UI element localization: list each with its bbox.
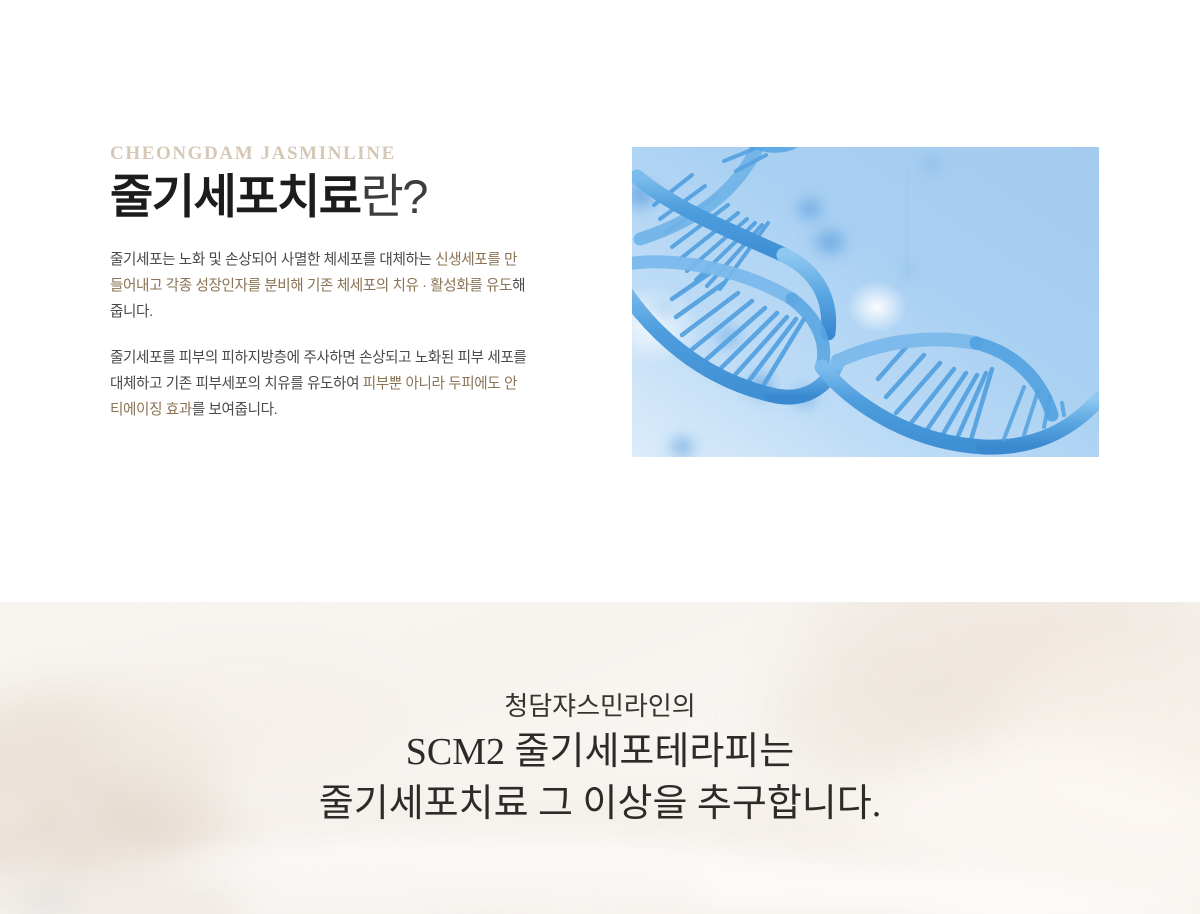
tagline-line-2: SCM2 줄기세포테라피는 xyxy=(0,726,1200,778)
tagline-line-3: 줄기세포치료 그 이상을 추구합니다. xyxy=(0,778,1200,830)
soft-swoosh xyxy=(0,836,1200,914)
tagline-line-1: 청담쟈스민라인의 xyxy=(0,688,1200,726)
light-glow xyxy=(847,281,907,333)
page-title: 줄기세포치료란? xyxy=(110,172,530,221)
intro-paragraph-2: 줄기세포를 피부의 피하지방층에 주사하면 손상되고 노화된 피부 세포를 대체… xyxy=(110,345,530,423)
intro-paragraph-1: 줄기세포는 노화 및 손상되어 사멸한 체세포를 대체하는 신생세포를 만들어내… xyxy=(110,247,530,325)
tagline-section: 청담쟈스민라인의 SCM2 줄기세포테라피는 줄기세포치료 그 이상을 추구합니… xyxy=(0,602,1200,914)
page-title-strong: 줄기세포치료 xyxy=(110,170,360,223)
page-title-light: 란? xyxy=(360,170,426,223)
dna-double-helix-image xyxy=(632,147,1099,457)
paragraph-2-segment-3: 를 보여줍니다. xyxy=(192,402,277,418)
brand-eyebrow: CHEONGDAM JASMINLINE xyxy=(110,143,530,166)
paragraph-1-segment-1: 줄기세포는 노화 및 손상되어 사멸한 체세포를 대체하는 xyxy=(110,252,435,268)
intro-text-column: CHEONGDAM JASMINLINE 줄기세포치료란? 줄기세포는 노화 및… xyxy=(110,143,530,423)
intro-section: CHEONGDAM JASMINLINE 줄기세포치료란? 줄기세포는 노화 및… xyxy=(0,0,1200,602)
tagline-copy: 청담쟈스민라인의 SCM2 줄기세포테라피는 줄기세포치료 그 이상을 추구합니… xyxy=(0,688,1200,830)
background-streak xyxy=(906,165,908,275)
dna-illustration-svg xyxy=(632,147,1099,457)
